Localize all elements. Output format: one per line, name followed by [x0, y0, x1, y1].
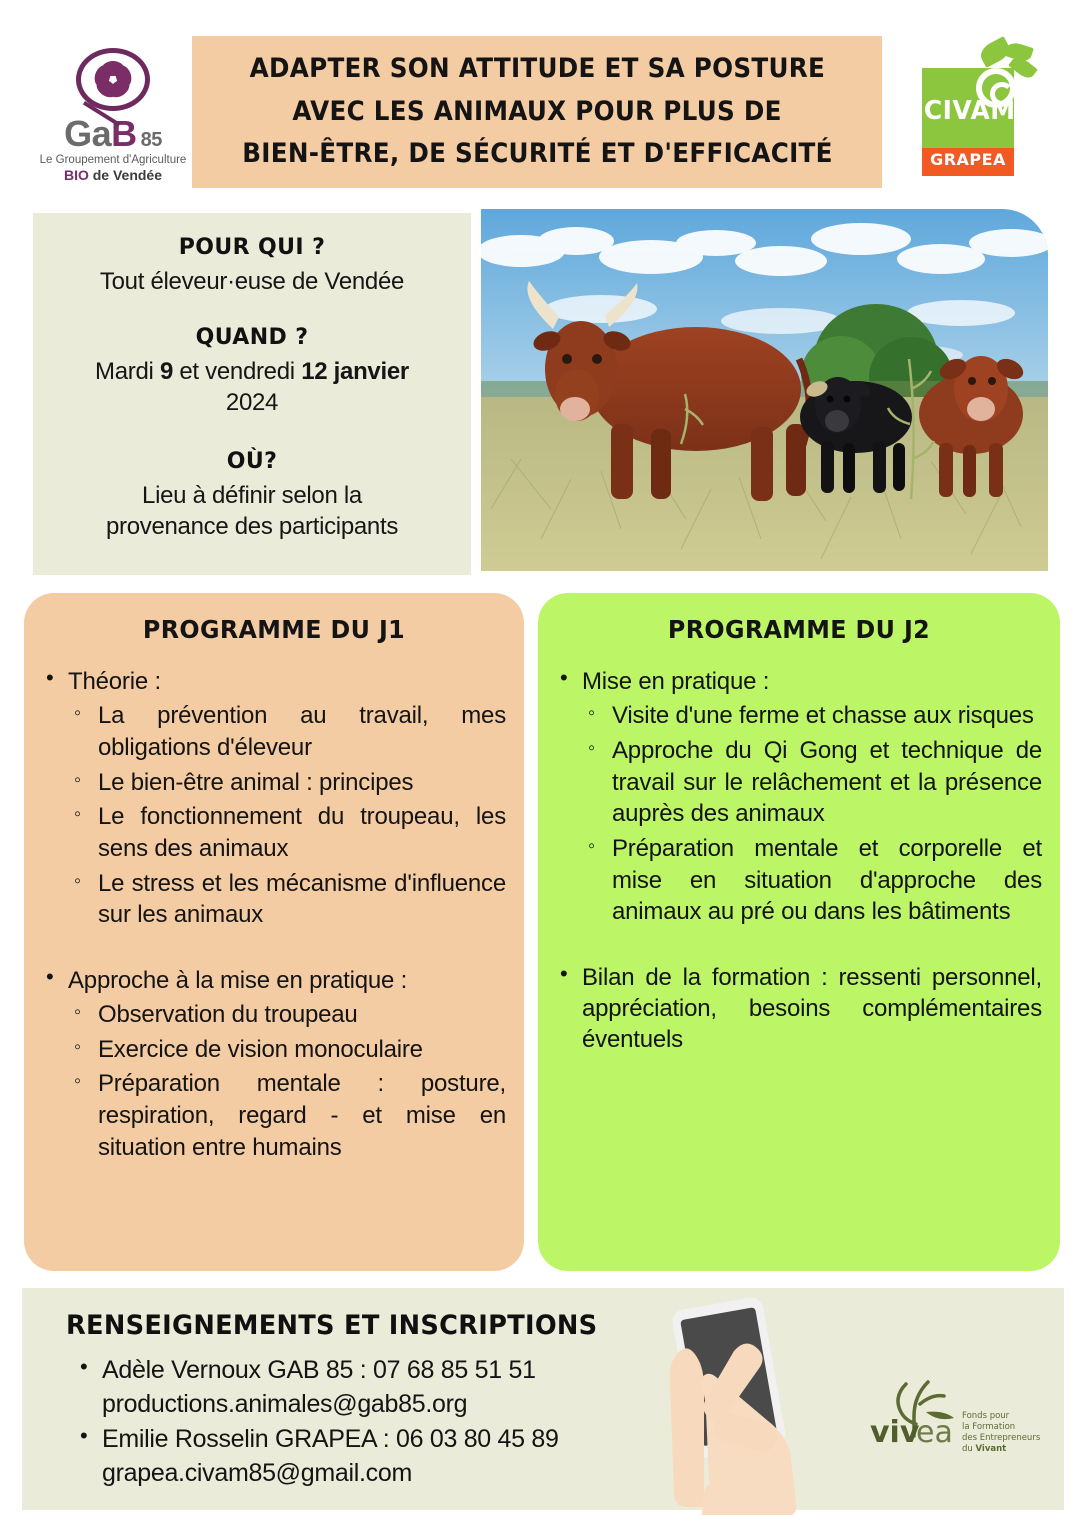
- svg-text:du Vivant: du Vivant: [962, 1444, 1006, 1454]
- section-heading: Théorie :: [68, 666, 506, 697]
- label-ou: OÙ?: [47, 449, 457, 474]
- cattle-pasture-photo: [481, 209, 1048, 571]
- list-item: Approche du Qi Gong et technique de trav…: [582, 735, 1042, 830]
- list-item: La prévention au travail, mes obligation…: [68, 700, 506, 763]
- value-ou: Lieu à définir selon la provenance des p…: [47, 480, 457, 542]
- svg-text:ea: ea: [916, 1415, 953, 1450]
- contact-name-phone: Emilie Rosselin GRAPEA : 06 03 80 45 89: [102, 1425, 559, 1453]
- vivea-logo: viv ea Fonds pour la Formation des Entre…: [862, 1378, 1062, 1468]
- poster-title-banner: ADAPTER SON ATTITUDE ET SA POSTURE AVEC …: [192, 36, 882, 188]
- section-heading: Bilan de la formation : ressenti personn…: [582, 962, 1042, 1056]
- sub-list: Observation du troupeau Exercice de visi…: [68, 999, 506, 1163]
- list-item: Préparation mentale : posture, respirati…: [68, 1068, 506, 1163]
- event-info-panel: POUR QUI ? Tout éleveur·euse de Vendée Q…: [33, 213, 471, 575]
- svg-text:la Formation: la Formation: [962, 1422, 1015, 1432]
- gab-flower-icon: [76, 48, 150, 111]
- list-item: Exercice de vision monoculaire: [68, 1034, 506, 1066]
- program-j1-title: PROGRAMME DU J1: [54, 615, 495, 644]
- list-item: Préparation mentale et corporelle et mis…: [582, 833, 1042, 928]
- contact-name-phone: Adèle Vernoux GAB 85 : 07 68 85 51 51: [102, 1356, 536, 1384]
- list-item: Emilie Rosselin GRAPEA : 06 03 80 45 89 …: [74, 1423, 674, 1490]
- list-item: Le stress et les mécanisme d'influence s…: [68, 868, 506, 931]
- program-j2-title: PROGRAMME DU J2: [568, 615, 1030, 644]
- contact-email[interactable]: productions.animales@gab85.org: [102, 1388, 674, 1422]
- list-item: Approche à la mise en pratique : Observa…: [42, 965, 506, 1164]
- program-j1-panel: PROGRAMME DU J1 Théorie : La prévention …: [24, 593, 524, 1271]
- title-line-3: BIEN-ÊTRE, DE SÉCURITÉ ET D'EFFICACITÉ: [242, 133, 833, 176]
- section-heading: Approche à la mise en pratique :: [68, 965, 506, 996]
- quand-date: 12 janvier: [301, 358, 409, 385]
- list-item: Mise en pratique : Visite d'une ferme et…: [556, 666, 1042, 928]
- gab-tagline-line1: Le Groupement d'Agriculture: [40, 154, 187, 166]
- list-item: Visite d'une ferme et chasse aux risques: [582, 700, 1042, 732]
- quand-mid: et vendredi: [173, 358, 301, 385]
- title-line-2: AVEC LES ANIMAUX POUR PLUS DE: [292, 91, 781, 134]
- label-pour-qui: POUR QUI ?: [47, 235, 457, 260]
- contact-email[interactable]: grapea.civam85@gmail.com: [102, 1457, 674, 1491]
- contact-list: Adèle Vernoux GAB 85 : 07 68 85 51 51 pr…: [74, 1354, 674, 1492]
- quand-year: 2024: [226, 389, 278, 416]
- list-item: Le fonctionnement du troupeau, les sens …: [68, 801, 506, 864]
- program-j1-list: Théorie : La prévention au travail, mes …: [42, 666, 506, 1163]
- civam-name: CIVAM: [924, 96, 1012, 126]
- svg-text:des Entrepreneurs: des Entrepreneurs: [962, 1433, 1041, 1443]
- gab-tagline-line2: BIO de Vendée: [64, 167, 162, 183]
- civam-grapea-logo: CIVAM GRAPEA: [922, 40, 1042, 180]
- list-item: Adèle Vernoux GAB 85 : 07 68 85 51 51 pr…: [74, 1354, 674, 1421]
- sub-list: La prévention au travail, mes obligation…: [68, 700, 506, 931]
- label-quand: QUAND ?: [47, 325, 457, 350]
- gab-vendee-word: de Vendée: [89, 167, 162, 183]
- footer-title: RENSEIGNEMENTS ET INSCRIPTIONS: [66, 1310, 597, 1341]
- ou-line1: Lieu à définir selon la: [142, 482, 362, 509]
- civam-sub-name: GRAPEA: [922, 150, 1014, 169]
- list-item: Bilan de la formation : ressenti personn…: [556, 962, 1042, 1056]
- vivea-logo-mark: viv ea Fonds pour la Formation des Entre…: [862, 1378, 1062, 1468]
- svg-text:viv: viv: [870, 1415, 920, 1450]
- value-quand: Mardi 9 et vendredi 12 janvier 2024: [47, 356, 457, 418]
- gab-number: 85: [141, 129, 162, 152]
- value-pour-qui: Tout éleveur·euse de Vendée: [47, 266, 457, 297]
- section-heading: Mise en pratique :: [582, 666, 1042, 697]
- title-line-1: ADAPTER SON ATTITUDE ET SA POSTURE: [249, 48, 825, 91]
- poster-root: GaB 85 Le Groupement d'Agriculture BIO d…: [0, 0, 1086, 1536]
- sub-list: Visite d'une ferme et chasse aux risques…: [582, 700, 1042, 928]
- list-item: Observation du troupeau: [68, 999, 506, 1031]
- hand-holding-smartphone-icon: [640, 1285, 840, 1515]
- program-j2-panel: PROGRAMME DU J2 Mise en pratique : Visit…: [538, 593, 1060, 1271]
- quand-day: 9: [160, 358, 173, 385]
- cattle-photo-illustration: [481, 209, 1048, 571]
- ou-line2: provenance des participants: [106, 513, 398, 540]
- gab-bio-word: BIO: [64, 167, 89, 183]
- list-item: Le bien-être animal : principes: [68, 767, 506, 799]
- svg-text:Fonds pour: Fonds pour: [962, 1411, 1010, 1421]
- program-j2-list: Mise en pratique : Visite d'une ferme et…: [556, 666, 1042, 1055]
- quand-prefix: Mardi: [95, 358, 160, 385]
- gab85-logo: GaB 85 Le Groupement d'Agriculture BIO d…: [38, 48, 188, 183]
- phone-illustration: [640, 1285, 840, 1515]
- list-item: Théorie : La prévention au travail, mes …: [42, 666, 506, 931]
